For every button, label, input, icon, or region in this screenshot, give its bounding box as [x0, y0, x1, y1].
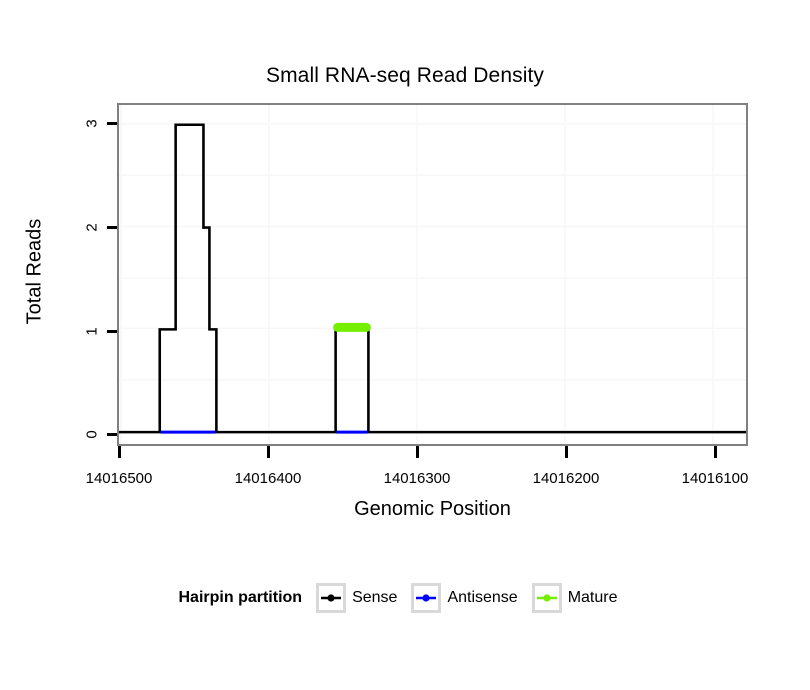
- x-tick-label-2: 14016300: [357, 470, 477, 487]
- x-tick-mark-4: [714, 446, 717, 458]
- y-tick-mark-0: [107, 433, 117, 436]
- chart-figure: Small RNA-seq Read Density Total Reads 3…: [0, 0, 810, 690]
- x-tick-mark-0: [118, 446, 121, 458]
- x-tick-label-1: 14016400: [208, 470, 328, 487]
- antisense-marker-icon: [416, 588, 436, 608]
- x-tick-label-0: 14016500: [59, 470, 179, 487]
- legend-entry-antisense[interactable]: Antisense: [411, 583, 525, 613]
- legend-entry-sense[interactable]: Sense: [316, 583, 405, 613]
- y-tick-label-0: 0: [84, 423, 101, 447]
- legend-key-antisense: [411, 583, 441, 613]
- mature-marker-icon: [537, 588, 557, 608]
- x-tick-label-3: 14016200: [506, 470, 626, 487]
- y-tick-mark-3: [107, 122, 117, 125]
- y-tick-label-1: 1: [84, 320, 101, 344]
- x-tick-mark-3: [565, 446, 568, 458]
- series-sense-line: [119, 125, 746, 432]
- x-tick-label-4: 14016100: [655, 470, 775, 487]
- data-traces: [119, 105, 746, 444]
- y-tick-mark-2: [107, 226, 117, 229]
- chart-legend: Hairpin partition Sense Antisense: [0, 583, 810, 613]
- y-tick-label-3: 3: [84, 112, 101, 136]
- y-axis-label: Total Reads: [24, 192, 47, 352]
- plot-panel: [117, 103, 748, 446]
- chart-title: Small RNA-seq Read Density: [0, 64, 810, 88]
- y-tick-label-2: 2: [84, 216, 101, 240]
- x-tick-mark-1: [267, 446, 270, 458]
- legend-label-mature: Mature: [568, 589, 618, 607]
- y-tick-mark-1: [107, 330, 117, 333]
- legend-label-antisense: Antisense: [447, 589, 517, 607]
- x-axis-label: Genomic Position: [117, 498, 748, 521]
- legend-key-sense: [316, 583, 346, 613]
- x-tick-mark-2: [416, 446, 419, 458]
- legend-title: Hairpin partition: [179, 589, 303, 607]
- legend-label-sense: Sense: [352, 589, 397, 607]
- legend-key-mature: [532, 583, 562, 613]
- legend-entry-mature[interactable]: Mature: [532, 583, 626, 613]
- sense-marker-icon: [321, 588, 341, 608]
